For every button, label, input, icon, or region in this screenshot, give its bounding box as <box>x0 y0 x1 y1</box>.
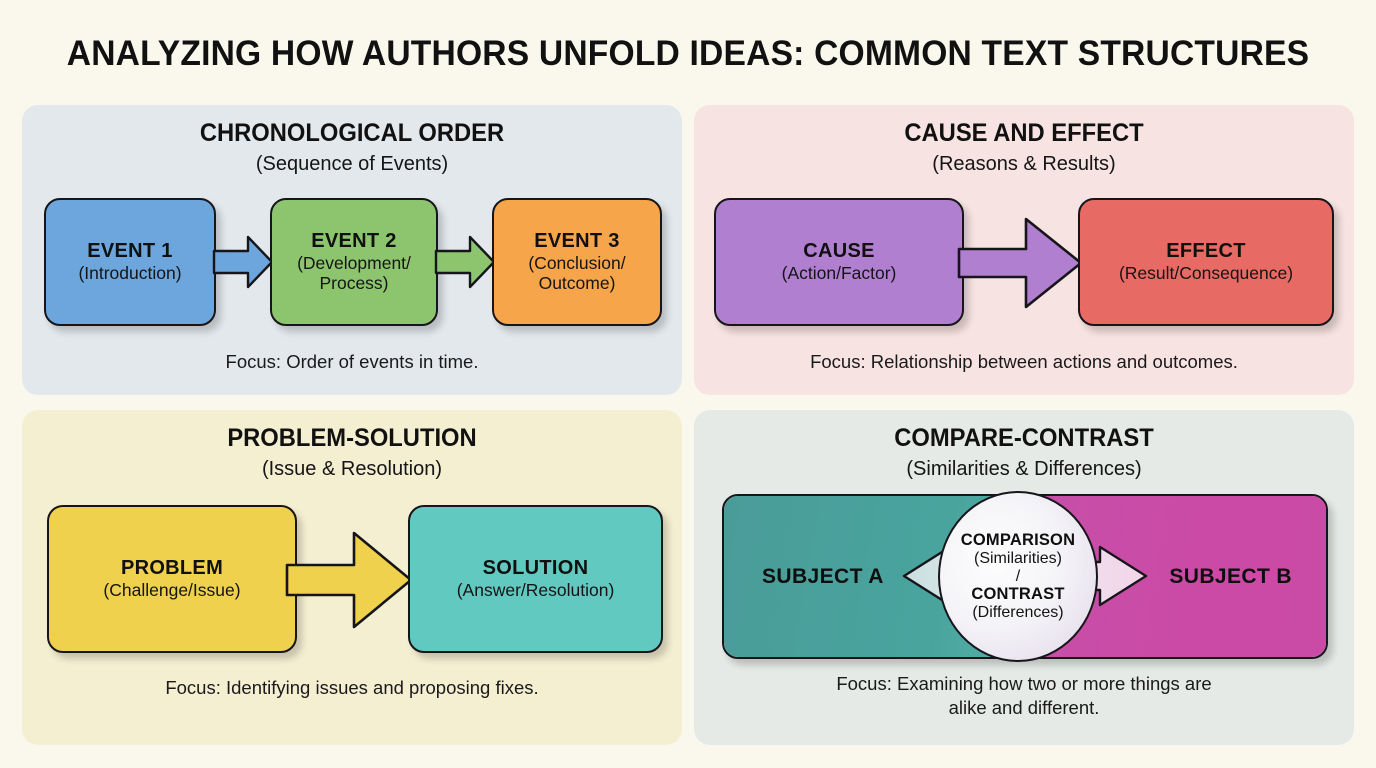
page-title: ANALYZING HOW AUTHORS UNFOLD IDEAS: COMM… <box>28 34 1349 74</box>
node-problem-title: PROBLEM <box>121 557 223 579</box>
panel-heading-cause-effect: CAUSE AND EFFECT <box>711 119 1338 148</box>
panel-subheading-chronological: (Sequence of Events) <box>22 153 682 176</box>
panel-focus-cause-effect: Focus: Relationship between actions and … <box>694 350 1354 374</box>
panel-focus-compare-line2: alike and different. <box>694 696 1354 720</box>
node-event-3-subtitle-line1: (Conclusion/ <box>528 254 625 274</box>
node-cause-title: CAUSE <box>803 240 875 262</box>
node-event-3-subtitle-line2: Outcome) <box>539 274 616 294</box>
panel-chronological-order: CHRONOLOGICAL ORDER (Sequence of Events)… <box>22 105 682 395</box>
panel-focus-chronological: Focus: Order of events in time. <box>22 350 682 374</box>
comparison-subtitle: (Similarities) <box>974 550 1062 567</box>
node-effect-title: EFFECT <box>1166 240 1246 262</box>
panel-cause-and-effect: CAUSE AND EFFECT (Reasons & Results) CAU… <box>694 105 1354 395</box>
node-event-1-title: EVENT 1 <box>87 240 172 262</box>
node-effect[interactable]: EFFECT (Result/Consequence) <box>1078 198 1334 326</box>
node-solution-subtitle: (Answer/Resolution) <box>457 581 615 601</box>
contrast-subtitle: (Differences) <box>972 604 1063 621</box>
node-event-3[interactable]: EVENT 3 (Conclusion/ Outcome) <box>492 198 662 326</box>
node-event-2-subtitle-line2: Process) <box>319 274 388 294</box>
node-event-2-subtitle-line1: (Development/ <box>297 254 411 274</box>
venn-separator: / <box>1016 568 1020 585</box>
venn-overlap-region[interactable]: COMPARISON (Similarities) / CONTRAST (Di… <box>938 491 1098 662</box>
node-solution-title: SOLUTION <box>483 557 589 579</box>
node-event-2[interactable]: EVENT 2 (Development/ Process) <box>270 198 438 326</box>
node-event-1-subtitle: (Introduction) <box>78 264 181 284</box>
arrow-problem-to-solution <box>284 527 414 633</box>
node-solution[interactable]: SOLUTION (Answer/Resolution) <box>408 505 663 653</box>
node-event-2-title: EVENT 2 <box>311 230 396 252</box>
contrast-title: CONTRAST <box>971 586 1064 604</box>
panel-focus-problem-solution: Focus: Identifying issues and proposing … <box>22 676 682 700</box>
node-event-1[interactable]: EVENT 1 (Introduction) <box>44 198 216 326</box>
arrow-event1-to-event2 <box>212 233 274 291</box>
panel-focus-compare-line1: Focus: Examining how two or more things … <box>694 672 1354 696</box>
panel-heading-compare-contrast: COMPARE-CONTRAST <box>711 424 1338 453</box>
panel-heading-chronological: CHRONOLOGICAL ORDER <box>39 119 666 148</box>
panel-subheading-problem-solution: (Issue & Resolution) <box>22 458 682 481</box>
arrow-event2-to-event3 <box>434 233 496 291</box>
infographic-poster: ANALYZING HOW AUTHORS UNFOLD IDEAS: COMM… <box>0 0 1376 768</box>
compare-contrast-diagram: SUBJECT A SUBJECT B <box>722 494 1328 659</box>
node-problem-subtitle: (Challenge/Issue) <box>103 581 240 601</box>
comparison-title: COMPARISON <box>961 532 1075 550</box>
node-effect-subtitle: (Result/Consequence) <box>1119 264 1293 284</box>
panel-grid: CHRONOLOGICAL ORDER (Sequence of Events)… <box>22 105 1354 750</box>
panel-subheading-compare-contrast: (Similarities & Differences) <box>694 458 1354 481</box>
panel-problem-solution: PROBLEM-SOLUTION (Issue & Resolution) PR… <box>22 410 682 745</box>
node-event-3-title: EVENT 3 <box>534 230 619 252</box>
panel-focus-compare-contrast: Focus: Examining how two or more things … <box>694 672 1354 719</box>
arrow-cause-to-effect <box>956 213 1084 313</box>
panel-subheading-cause-effect: (Reasons & Results) <box>694 153 1354 176</box>
panel-heading-problem-solution: PROBLEM-SOLUTION <box>39 424 666 453</box>
node-problem[interactable]: PROBLEM (Challenge/Issue) <box>47 505 297 653</box>
node-cause-subtitle: (Action/Factor) <box>782 264 897 284</box>
node-cause[interactable]: CAUSE (Action/Factor) <box>714 198 964 326</box>
panel-compare-contrast: COMPARE-CONTRAST (Similarities & Differe… <box>694 410 1354 745</box>
